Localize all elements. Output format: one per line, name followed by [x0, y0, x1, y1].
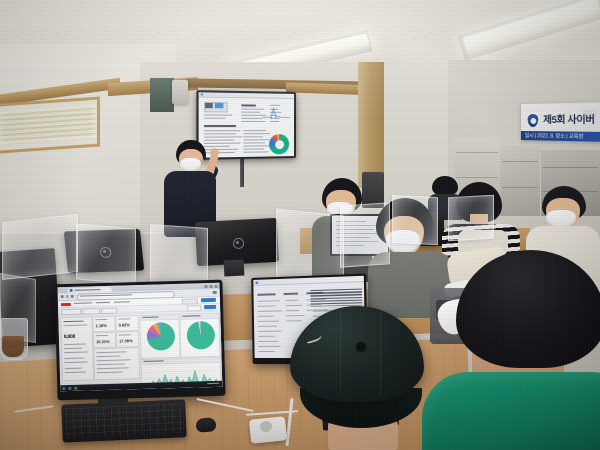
wall-display-app-icon [201, 93, 203, 95]
app-nav-3[interactable] [114, 301, 130, 302]
acrylic-divider-2 [76, 223, 136, 284]
cap-seam-2 [380, 312, 381, 396]
kpi-tile-1: 1.18% [92, 316, 115, 333]
browser-favicon-icon [70, 289, 73, 292]
display-mount-arm [240, 155, 244, 187]
acrylic-divider-1 [2, 214, 78, 280]
window-maximize-icon[interactable] [209, 284, 212, 287]
attendee-green-shirt [432, 250, 600, 450]
log-viewer-app-icon [255, 281, 258, 284]
window-close-icon[interactable] [204, 285, 207, 288]
hair [456, 250, 600, 368]
pie-chart-1 [147, 322, 176, 351]
kpi-tile-2: 0.82% [115, 315, 138, 332]
kpi-value-total: 8,808 [64, 334, 75, 340]
shield-emblem-icon [527, 113, 540, 128]
app-logo[interactable] [61, 302, 71, 305]
shield-emblem-inner [530, 117, 536, 123]
pie-card-2-title [182, 315, 200, 317]
reload-icon[interactable] [71, 295, 74, 298]
drink-liquid [2, 336, 24, 357]
kpi-tile-2-value: 0.82% [119, 322, 130, 327]
pie-card-3-header [220, 313, 222, 319]
pointing-hand [210, 148, 219, 157]
bar-chart-header [222, 357, 223, 363]
apply-button[interactable] [204, 305, 216, 309]
acrylic-divider-7 [448, 195, 494, 241]
wall-panel [150, 78, 174, 112]
window-minimize-icon[interactable] [214, 284, 217, 287]
window-frame [0, 97, 100, 154]
monitor-stand-1 [224, 259, 245, 276]
taskbar-app-2-icon[interactable] [74, 386, 77, 389]
area-chart-title [144, 361, 164, 363]
start-button-icon[interactable] [62, 387, 65, 390]
pie-card-1-title [142, 317, 158, 319]
kpi-label-total [63, 321, 83, 323]
cap-seam-1 [340, 310, 341, 396]
hamburger-menu-icon[interactable] [213, 291, 217, 294]
attendee-cap [284, 296, 430, 450]
dashboard-monitor-bezel: 8,808 1.18% [54, 280, 225, 401]
kpi-tile-4-value: 17.08% [119, 338, 133, 343]
classroom-photo: 제5회 사이버 보안 일시 | 2022. 8. 장소 | 교육장 [0, 0, 600, 450]
pie-card-3: 41.62% 20.33% [219, 312, 222, 357]
wall-display-donut-hole [275, 140, 284, 149]
dashboard-monitor: 8,808 1.18% [54, 280, 225, 401]
cap-crown [290, 306, 424, 402]
forward-arrow-icon[interactable] [66, 295, 69, 298]
app-nav-2[interactable] [96, 302, 110, 303]
kpi-tile-1-value: 1.18% [96, 323, 107, 328]
banner-ghost-text: 보안 [583, 108, 597, 119]
wall-display-kpi-accent [215, 103, 224, 108]
kpi-tile-3: 15.31% [93, 332, 116, 349]
banner-subtitle-bar: 일시 | 2022. 8. 장소 | 교육장 [521, 131, 600, 142]
taskbar-clock[interactable] [207, 383, 219, 384]
pie-card-1-header [140, 315, 178, 321]
wall-dispenser [172, 80, 188, 104]
acrylic-divider-5 [340, 202, 390, 267]
event-banner: 제5회 사이버 보안 일시 | 2022. 8. 장소 | 교육장 [521, 102, 600, 142]
cap-button [356, 342, 366, 351]
dell-logo-icon [232, 237, 244, 249]
taskbar-app-1-icon[interactable] [68, 386, 71, 389]
dashboard-monitor-screen[interactable]: 8,808 1.18% [57, 283, 222, 391]
keyboard-keys[interactable] [65, 403, 182, 438]
app-search-button[interactable] [201, 298, 216, 302]
kpi-detail-panel [93, 347, 140, 380]
wall-display-kpi-value [205, 103, 213, 108]
kpi-panel-main: 8,808 [60, 316, 94, 381]
banner-subtitle: 일시 | 2022. 8. 장소 | 교육장 [525, 132, 584, 140]
acrylic-divider-6 [392, 195, 438, 245]
back-arrow-icon[interactable] [61, 295, 64, 298]
torso [422, 372, 600, 450]
wall-display-sparkline [262, 105, 290, 119]
app-nav-1[interactable] [74, 303, 92, 305]
pie-card-2-header [180, 314, 218, 320]
pie-card-1 [139, 314, 180, 359]
dashboard-body: 8,808 1.18% [58, 311, 222, 391]
wall-display-donut-chart [269, 134, 289, 154]
pie-chart-2 [187, 321, 216, 350]
kpi-tile-4: 17.08% [116, 331, 139, 348]
kpi-tile-3-value: 15.31% [96, 339, 110, 344]
wood-pillar [358, 62, 384, 188]
pie-card-2 [179, 313, 220, 358]
